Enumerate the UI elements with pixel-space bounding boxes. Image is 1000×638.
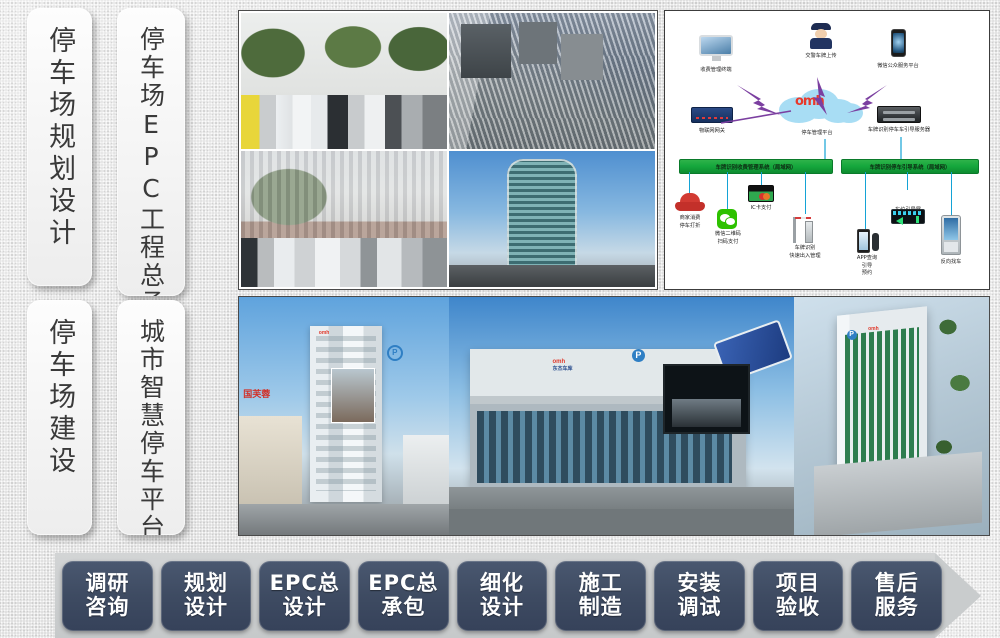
- label-app-query-guidance-booking: APP查询引导预约: [840, 255, 894, 278]
- step-line-1: 安装: [677, 572, 721, 596]
- step-line-1: 调研: [85, 572, 129, 596]
- system-box-plate-recognition-toll[interactable]: 车牌识别收费管理系统（局域网）: [679, 159, 833, 174]
- step-line-2: 设计: [184, 596, 228, 620]
- system-topology-diagram: 收费管理终端 交警车牌上传 微信公众服务平台 物联网网关 车牌识别停车车引导服务…: [664, 10, 990, 290]
- process-step-epc-design[interactable]: EPC总 设计: [259, 561, 350, 631]
- process-step-row: 调研 咨询 规划 设计 EPC总 设计 EPC总 承包 细化 设计 施工 制造 …: [62, 560, 942, 632]
- render-ground: [239, 504, 449, 535]
- step-line-1: 施工: [579, 572, 623, 596]
- sidebar-card-label: 停车场规划设计: [44, 8, 75, 250]
- person-icon: [872, 233, 879, 251]
- sidebar-card-parking-construction[interactable]: 停车场建设: [27, 300, 92, 535]
- step-line-1: 项目: [776, 572, 820, 596]
- self-service-kiosk-icon: [941, 215, 961, 255]
- step-line-2: 承包: [381, 596, 425, 620]
- render-road: [449, 509, 794, 535]
- render-low-building: [239, 416, 302, 506]
- step-line-2: 制造: [579, 596, 623, 620]
- render-plaza: [814, 452, 982, 535]
- connector-line: [865, 172, 866, 230]
- system-box-parking-guidance[interactable]: 车牌识别停车引导系统（局域网）: [841, 159, 979, 174]
- connector-line: [805, 172, 806, 214]
- ic-card-icon: [748, 185, 774, 202]
- process-step-installation-commissioning[interactable]: 安装 调试: [654, 561, 745, 631]
- brand-logo: omh: [868, 326, 879, 332]
- label-plate-fast-entry-exit: 车牌识别快速出入管理: [778, 245, 832, 260]
- sidebar-card-parking-epc-general-contract[interactable]: 停车场EPC工程总承包: [117, 8, 185, 296]
- photo-aerial-parking-view: [449, 13, 655, 149]
- photo-street-parking-lot: [241, 13, 447, 149]
- process-step-detailed-design[interactable]: 细化 设计: [457, 561, 548, 631]
- connector-line: [689, 172, 690, 194]
- step-line-2: 设计: [480, 596, 524, 620]
- label-ic-card-payment: IC卡支付: [751, 205, 772, 213]
- step-line-1: EPC总: [368, 572, 438, 596]
- process-step-survey-consulting[interactable]: 调研 咨询: [62, 561, 153, 631]
- wechat-icon: [717, 209, 737, 229]
- label-merchant-discount: 商家消费停车打折: [664, 215, 717, 230]
- photo-grid-panel: [238, 10, 658, 290]
- step-line-1: 售后: [875, 572, 919, 596]
- sidebar-card-label: 停车场建设: [44, 300, 75, 478]
- barrier-gate-icon: [791, 213, 817, 243]
- sidebar-card-parking-planning-design[interactable]: 停车场规划设计: [27, 8, 92, 286]
- system-box-label: 车牌识别停车引导系统（局域网）: [870, 163, 951, 171]
- sidebar-card-label: 城市智慧停车平台建设: [137, 300, 166, 535]
- render-signage-left: 国芙蓉: [243, 387, 270, 400]
- parking-p-badge: P: [387, 345, 403, 361]
- connector-line: [761, 172, 762, 186]
- label-reverse-car-finding: 反向找车: [941, 259, 962, 267]
- label-wechat-qr-payment: 微信二维码扫码支付: [701, 231, 755, 246]
- step-line-2: 咨询: [85, 596, 129, 620]
- photo-glass-office-tower: [449, 151, 655, 287]
- connector-line: [727, 172, 728, 210]
- render-tower-garage-street: omh P 国芙蓉: [239, 297, 449, 535]
- connector-line: [907, 172, 908, 190]
- process-step-planning-design[interactable]: 规划 设计: [161, 561, 252, 631]
- step-line-2: 设计: [283, 596, 327, 620]
- brand-logo-sub: 东杰车库: [553, 365, 573, 372]
- step-line-2: 调试: [677, 596, 721, 620]
- render-led-screen: [663, 364, 750, 435]
- step-line-1: EPC总: [270, 572, 340, 596]
- render-billboard: [331, 368, 375, 422]
- render-low-building-right: [403, 435, 449, 506]
- process-step-construction-manufacturing[interactable]: 施工 制造: [555, 561, 646, 631]
- render-garage-facade-led: omh 东杰车库 P: [449, 297, 794, 535]
- sidebar-card-smart-city-parking-platform[interactable]: 城市智慧停车平台建设: [117, 300, 185, 535]
- red-car-icon: [675, 193, 705, 213]
- step-line-2: 服务: [875, 596, 919, 620]
- render-aerial-tower-garage: P omh: [794, 297, 989, 535]
- sidebar-card-label: 停车场EPC工程总承包: [137, 8, 166, 296]
- label-parking-space-guidance-screen: 车位引导屏: [895, 207, 921, 215]
- connector-line: [951, 172, 952, 216]
- process-step-after-sales-service[interactable]: 售后 服务: [851, 561, 942, 631]
- architectural-render-panel: omh P 国芙蓉 omh 东杰车库 P P omh: [238, 296, 990, 536]
- system-box-label: 车牌识别收费管理系统（局域网）: [716, 163, 797, 171]
- mobile-app-icon: [857, 229, 870, 253]
- brand-logo: omh: [319, 330, 330, 336]
- brand-logo: omh 东杰车库: [553, 359, 573, 372]
- parking-p-badge: P: [847, 330, 857, 340]
- step-line-1: 规划: [184, 572, 228, 596]
- step-line-1: 细化: [480, 572, 524, 596]
- process-step-epc-contract[interactable]: EPC总 承包: [358, 561, 449, 631]
- photo-lot-brick-building: [241, 151, 447, 287]
- step-line-2: 验收: [776, 596, 820, 620]
- brand-logo-main: omh: [553, 359, 566, 365]
- process-step-project-acceptance[interactable]: 项目 验收: [753, 561, 844, 631]
